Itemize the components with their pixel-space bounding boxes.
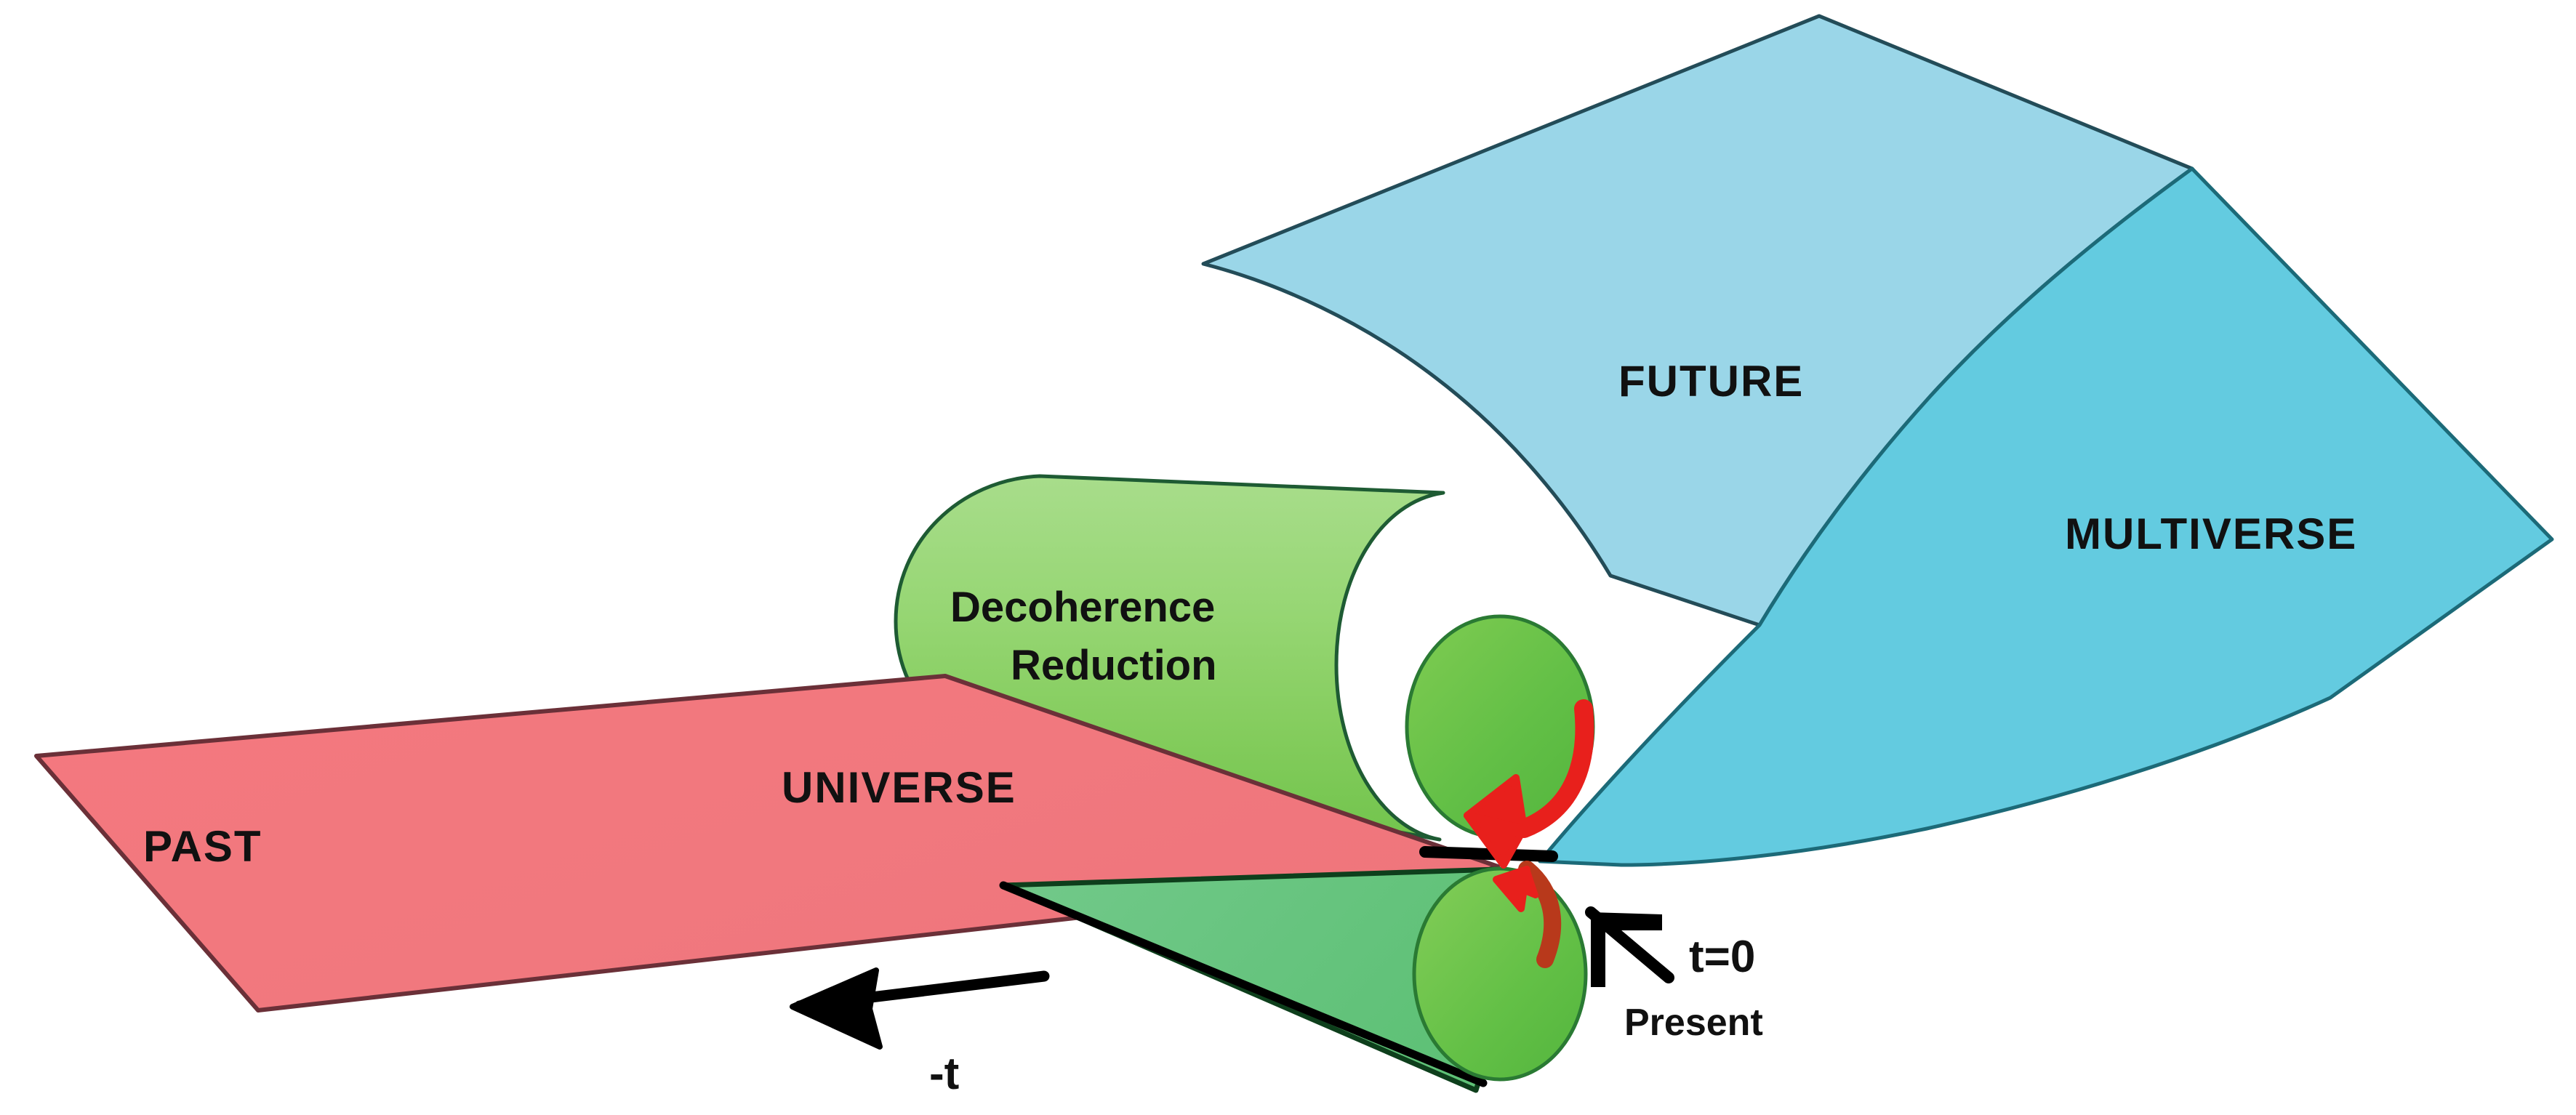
time-axis-arrow [793, 970, 1044, 1047]
origin-marker [1425, 852, 1552, 856]
label-future: FUTURE [1618, 357, 1804, 406]
label-universe: UNIVERSE [782, 763, 1016, 812]
label-t-zero: t=0 [1689, 932, 1755, 982]
label-decoherence-line1: Decoherence [950, 584, 1215, 631]
label-present: Present [1624, 1002, 1763, 1044]
lower-cap-circle [1414, 869, 1586, 1079]
label-past: PAST [143, 822, 262, 871]
label-negative-time: -t [929, 1049, 959, 1099]
label-multiverse: MULTIVERSE [2065, 510, 2357, 558]
label-decoherence-line2: Reduction [1011, 642, 1217, 689]
spacetime-diagram-canvas: PAST UNIVERSE FUTURE MULTIVERSE Decohere… [0, 0, 2576, 1115]
pointer-arrow-to-origin [1591, 912, 1669, 987]
diagram-root: PAST UNIVERSE FUTURE MULTIVERSE Decohere… [0, 0, 2576, 1115]
